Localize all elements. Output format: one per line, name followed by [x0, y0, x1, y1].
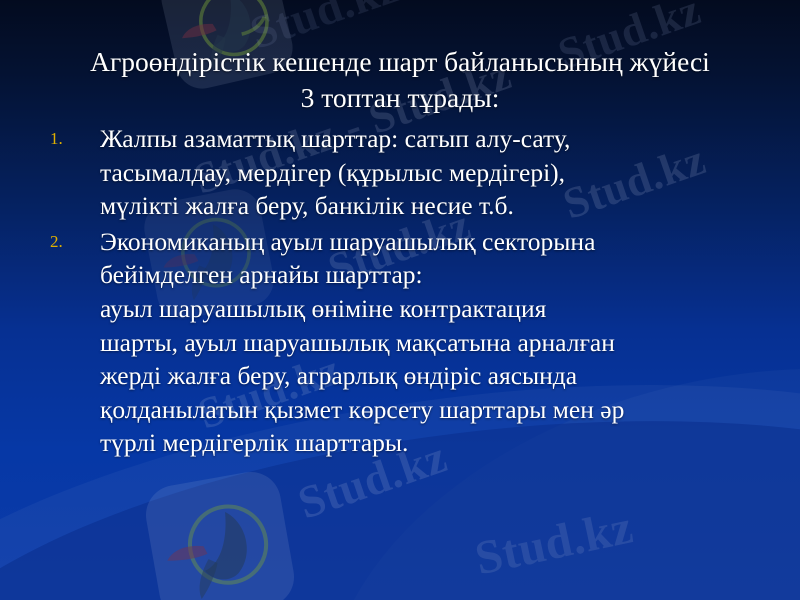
- title-line: Агроөндірістік кешенде шарт байланысының…: [40, 44, 760, 80]
- list-item-text: Жалпы азаматтық шарттар: сатып алу-сату,…: [100, 122, 784, 223]
- list-item-text: Экономиканың ауыл шаруашылық секторына б…: [100, 225, 784, 460]
- text-line: Жалпы азаматтық шарттар: сатып алу-сату,: [100, 122, 784, 156]
- page-title: Агроөндірістік кешенде шарт байланысының…: [40, 44, 760, 116]
- text-line: Экономиканың ауыл шаруашылық секторына: [100, 225, 784, 259]
- text-line: тасымалдау, мердігер (құрылыс мердігері)…: [100, 156, 784, 190]
- text-line: қолданылатын қызмет көрсету шарттары мен…: [100, 393, 784, 427]
- title-line: 3 топтан тұрады:: [40, 80, 760, 116]
- text-line: ауыл шаруашылық өніміне контрактация: [100, 292, 784, 326]
- list-item: 1. Жалпы азаматтық шарттар: сатып алу-са…: [44, 122, 784, 223]
- list-item-marker: 1.: [50, 126, 90, 151]
- text-line: мүлікті жалға беру, банкілік несие т.б.: [100, 189, 784, 223]
- slide-content: Агроөндірістік кешенде шарт байланысының…: [0, 0, 800, 600]
- list-item: 2. Экономиканың ауыл шаруашылық секторын…: [44, 225, 784, 460]
- text-line: түрлі мердігерлік шарттары.: [100, 426, 784, 460]
- text-line: шарты, ауыл шаруашылық мақсатына арналға…: [100, 326, 784, 360]
- presentation-slide: Stud.kz Stud.kz Stud.kz - Stud.kz Stud.k…: [0, 0, 800, 600]
- numbered-list: 1. Жалпы азаматтық шарттар: сатып алу-са…: [44, 122, 784, 462]
- list-item-marker: 2.: [50, 229, 90, 254]
- text-line: жерді жалға беру, аграрлық өндіріс аясын…: [100, 359, 784, 393]
- text-line: бейімделген арнайы шарттар:: [100, 258, 784, 292]
